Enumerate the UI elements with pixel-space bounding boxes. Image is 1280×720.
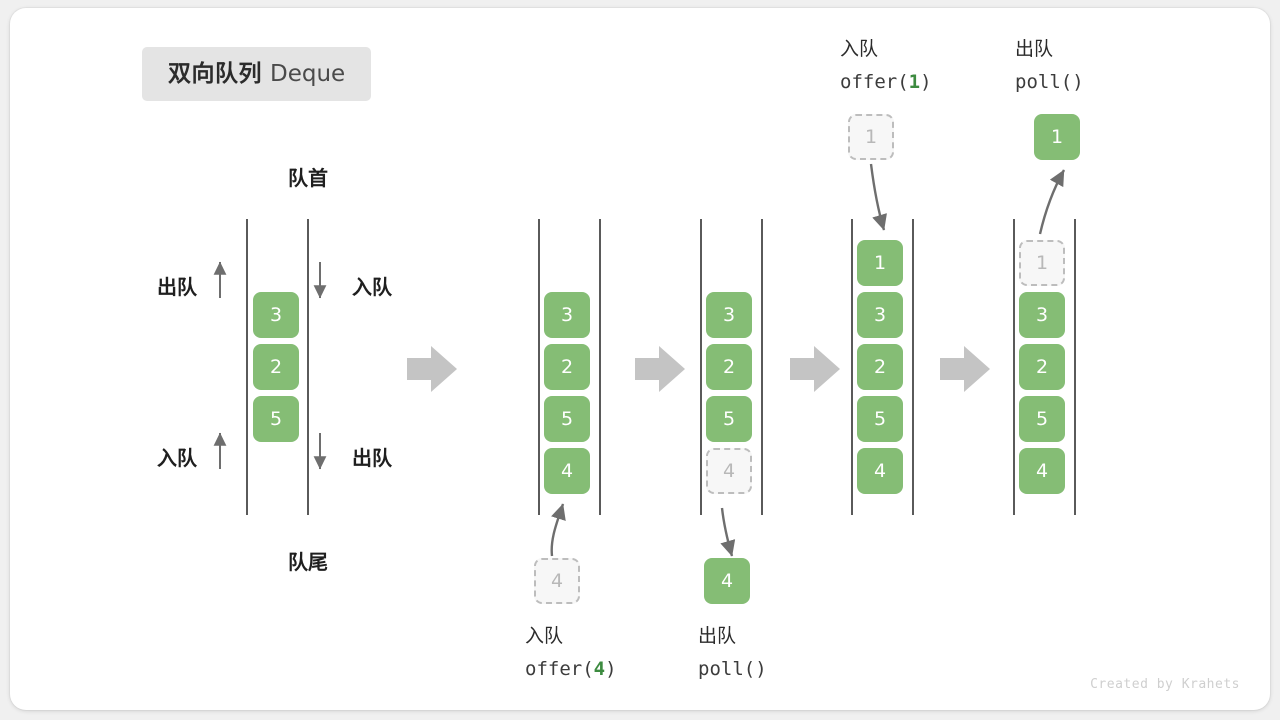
panel2-rail-left [538, 219, 540, 515]
panel5-remove-arrow [1040, 170, 1064, 234]
panel5-cell: 4 [1019, 448, 1065, 494]
panel1-cell: 3 [253, 292, 299, 338]
panel2-op-label: 入队 offer(4) [525, 623, 617, 683]
panel5-op-label: 出队 poll() [1015, 36, 1084, 96]
panel2-rail-right [599, 219, 601, 515]
diagram-card: 双向队列Deque 队首 队尾 出队 入队 入队 出队 3 2 5 3 2 5 … [10, 8, 1270, 710]
panel4-op-code-suffix: ) [920, 71, 931, 93]
panel3-cell: 5 [706, 396, 752, 442]
panel5-rail-left [1013, 219, 1015, 515]
panel1-rear-label: 队尾 [247, 549, 369, 578]
panel5-cell: 3 [1019, 292, 1065, 338]
panel1-cell: 2 [253, 344, 299, 390]
panel2-floating-cell: 4 [534, 558, 580, 604]
panel5-floating-cell: 1 [1034, 114, 1080, 160]
panel2-op-cn: 入队 [525, 623, 617, 651]
panel5-ghost-cell: 1 [1019, 240, 1065, 286]
panel2-cell: 5 [544, 396, 590, 442]
panel2-op-code-suffix: ) [605, 658, 616, 680]
panel4-cell: 1 [857, 240, 903, 286]
panel1-top-right-label: 入队 [352, 274, 392, 303]
arrows-overlay [10, 8, 1270, 710]
step-arrow [940, 346, 990, 392]
panel1-top-left-label: 出队 [157, 274, 197, 303]
panel5-op-code-suffix: ) [1072, 71, 1083, 93]
panel5-op-code: poll() [1015, 69, 1084, 97]
title-badge: 双向队列Deque [142, 47, 371, 101]
panel5-op-code-prefix: poll( [1015, 71, 1072, 93]
panel2-op-code-arg: 4 [594, 658, 605, 680]
panel2-cell: 4 [544, 448, 590, 494]
panel3-cell: 3 [706, 292, 752, 338]
panel2-insert-arrow [552, 504, 563, 556]
footer-credit: Created by Krahets [1090, 677, 1240, 692]
panel4-cell: 5 [857, 396, 903, 442]
title-cn: 双向队列 [168, 60, 262, 86]
panel1-cell: 5 [253, 396, 299, 442]
panel4-op-code-prefix: offer( [840, 71, 909, 93]
panel4-op-cn: 入队 [840, 36, 932, 64]
panel5-op-cn: 出队 [1015, 36, 1084, 64]
panel3-floating-cell: 4 [704, 558, 750, 604]
panel1-rail-right [307, 219, 309, 515]
panel4-cell: 2 [857, 344, 903, 390]
panel3-op-code: poll() [698, 656, 767, 684]
panel1-front-label: 队首 [247, 165, 369, 194]
panel3-op-label: 出队 poll() [698, 623, 767, 683]
panel2-op-code-prefix: offer( [525, 658, 594, 680]
panel3-rail-left [700, 219, 702, 515]
panel5-rail-right [1074, 219, 1076, 515]
step-arrow [407, 346, 457, 392]
panel4-rail-left [851, 219, 853, 515]
panel5-cell: 5 [1019, 396, 1065, 442]
panel4-cell: 3 [857, 292, 903, 338]
panel2-cell: 3 [544, 292, 590, 338]
title-en: Deque [270, 61, 345, 87]
panel3-op-code-suffix: ) [755, 658, 766, 680]
step-arrow [635, 346, 685, 392]
panel3-cell: 2 [706, 344, 752, 390]
panel1-rail-left [246, 219, 248, 515]
panel1-bottom-right-label: 出队 [352, 445, 392, 474]
panel4-op-code-arg: 1 [909, 71, 920, 93]
panel4-rail-right [912, 219, 914, 515]
diagram-stage: 双向队列Deque 队首 队尾 出队 入队 入队 出队 3 2 5 3 2 5 … [10, 8, 1270, 710]
panel3-op-code-prefix: poll( [698, 658, 755, 680]
panel4-op-code: offer(1) [840, 69, 932, 97]
panel3-remove-arrow [722, 508, 732, 556]
panel4-cell: 4 [857, 448, 903, 494]
panel3-op-cn: 出队 [698, 623, 767, 651]
panel3-rail-right [761, 219, 763, 515]
panel3-ghost-cell: 4 [706, 448, 752, 494]
step-arrow [790, 346, 840, 392]
panel2-cell: 2 [544, 344, 590, 390]
panel2-op-code: offer(4) [525, 656, 617, 684]
panel4-op-label: 入队 offer(1) [840, 36, 932, 96]
panel4-insert-arrow [871, 164, 884, 230]
panel1-bottom-left-label: 入队 [157, 445, 197, 474]
panel5-cell: 2 [1019, 344, 1065, 390]
panel4-floating-cell: 1 [848, 114, 894, 160]
